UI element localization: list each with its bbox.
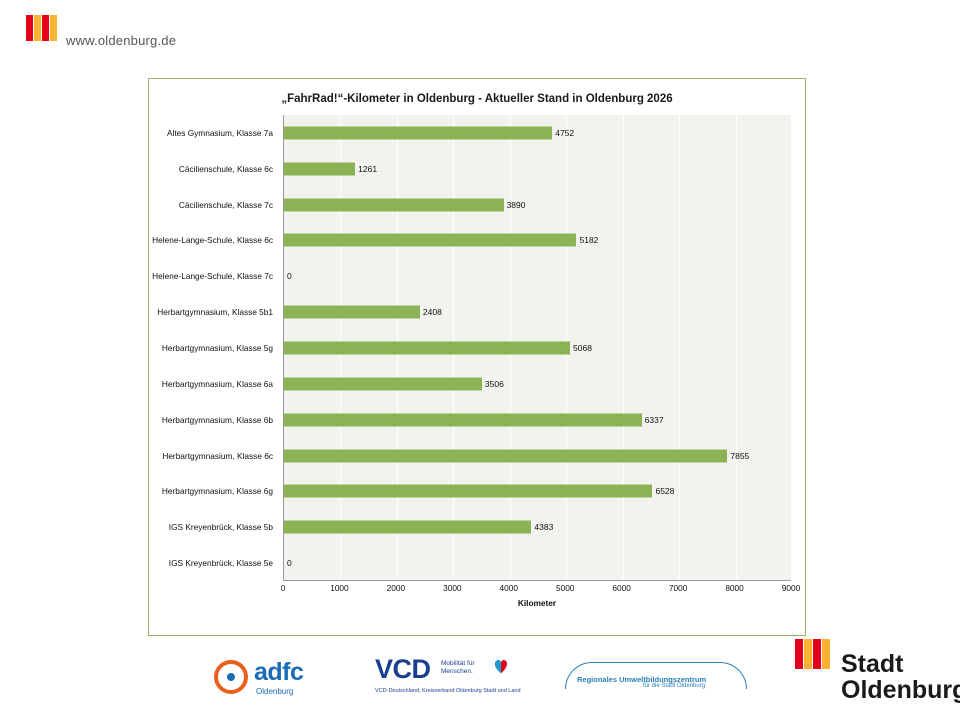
x-axis-tick-label: 8000 [725, 583, 743, 593]
vcd-sublabel: VCD-Deutschland, Kreisverband Oldenburg … [375, 688, 521, 694]
heart-icon [492, 658, 510, 674]
bar-row: 0 [284, 258, 791, 294]
bar [284, 198, 504, 211]
bar-value-label: 3890 [507, 200, 526, 210]
page-header: www.oldenburg.de [0, 0, 960, 70]
bar-row: 3506 [284, 366, 791, 402]
bar-value-label: 1261 [358, 164, 377, 174]
y-axis-tick-label: Helene-Lange-Schule, Klasse 7c [149, 258, 279, 294]
vcd-logo: VCD Mobilität für Menschen. VCD-Deutschl… [375, 654, 525, 710]
bar [284, 377, 482, 390]
bar-row: 6528 [284, 473, 791, 509]
adfc-wordmark: adfc [254, 658, 303, 687]
x-axis-tick-label: 7000 [669, 583, 687, 593]
bar-row: 2408 [284, 294, 791, 330]
stadt-oldenburg-logo: Stadt Oldenburg [795, 650, 960, 710]
stadt-line2: Oldenburg [841, 676, 960, 705]
bar [284, 521, 531, 534]
bar-value-label: 0 [287, 271, 292, 281]
bar-value-label: 7855 [730, 451, 749, 461]
vcd-claim-line1: Mobilität für [441, 660, 475, 668]
bar-value-label: 0 [287, 558, 292, 568]
y-axis-tick-label: IGS Kreyenbrück, Klasse 5e [149, 545, 279, 581]
bar-value-label: 4752 [555, 128, 574, 138]
bar-value-label: 6528 [655, 486, 674, 496]
y-axis-tick-label: Herbartgymnasium, Klasse 6c [149, 438, 279, 474]
bar-value-label: 4383 [534, 522, 553, 532]
bar-rows: 4752126138905182024085068350663377855652… [284, 115, 791, 580]
bar-row: 5182 [284, 223, 791, 259]
bar-row: 4752 [284, 115, 791, 151]
adfc-ring-icon [214, 660, 248, 694]
site-url: www.oldenburg.de [66, 33, 176, 48]
y-axis-tick-label: IGS Kreyenbrück, Klasse 5b [149, 509, 279, 545]
x-axis-tick-label: 4000 [500, 583, 518, 593]
bar [284, 162, 355, 175]
vcd-wordmark: VCD [375, 654, 431, 685]
page-footer: adfc Oldenburg VCD Mobilität für Mensche… [0, 642, 960, 720]
x-axis-ticks: 0100020003000400050006000700080009000 [283, 583, 791, 597]
bar-row: 7855 [284, 438, 791, 474]
bar-value-label: 6337 [645, 415, 664, 425]
plot-area: 4752126138905182024085068350663377855652… [283, 115, 791, 581]
x-axis-tick-label: 1000 [330, 583, 348, 593]
bar [284, 485, 652, 498]
vcd-claim-line2: Menschen. [441, 668, 475, 676]
bar-row: 0 [284, 545, 791, 581]
bar [284, 126, 552, 139]
bar-value-label: 5182 [579, 235, 598, 245]
adfc-logo: adfc Oldenburg [210, 656, 340, 704]
vcd-claim: Mobilität für Menschen. [441, 660, 475, 676]
bar-row: 5068 [284, 330, 791, 366]
bar-value-label: 2408 [423, 307, 442, 317]
y-axis-tick-label: Cäcilienschule, Klasse 6c [149, 151, 279, 187]
y-axis-tick-label: Herbartgymnasium, Klasse 6a [149, 366, 279, 402]
bar-row: 4383 [284, 509, 791, 545]
bar [284, 449, 727, 462]
x-axis-tick-label: 0 [281, 583, 286, 593]
oldenburg-flag-logo-icon [26, 28, 60, 54]
y-axis-tick-label: Helene-Lange-Schule, Klasse 6c [149, 223, 279, 259]
bar [284, 306, 420, 319]
bar-value-label: 5068 [573, 343, 592, 353]
adfc-sublabel: Oldenburg [256, 687, 293, 696]
x-axis-tick-label: 3000 [443, 583, 461, 593]
x-axis-title: Kilometer [283, 598, 791, 608]
x-axis-tick-label: 6000 [612, 583, 630, 593]
stadt-line1: Stadt [841, 650, 904, 679]
y-axis-tick-label: Herbartgymnasium, Klasse 5g [149, 330, 279, 366]
bar-row: 6337 [284, 402, 791, 438]
rubz-line2: für die Stadt Oldenburg [643, 683, 705, 689]
chart-panel: „FahrRad!“-Kilometer in Oldenburg - Aktu… [148, 78, 806, 636]
y-axis-tick-label: Herbartgymnasium, Klasse 5b1 [149, 294, 279, 330]
stadt-flag-icon [795, 654, 833, 684]
y-axis-tick-label: Herbartgymnasium, Klasse 6b [149, 402, 279, 438]
x-axis-tick-label: 9000 [782, 583, 800, 593]
x-axis-tick-label: 2000 [387, 583, 405, 593]
y-axis-tick-label: Herbartgymnasium, Klasse 6g [149, 473, 279, 509]
bar-value-label: 3506 [485, 379, 504, 389]
rubz-logo: Regionales Umweltbildungszentrum für die… [565, 662, 745, 702]
bar-row: 3890 [284, 187, 791, 223]
bar [284, 234, 576, 247]
y-axis-labels: Altes Gymnasium, Klasse 7aCäcilienschule… [149, 115, 279, 581]
y-axis-tick-label: Cäcilienschule, Klasse 7c [149, 187, 279, 223]
gridline [792, 115, 793, 580]
chart-title: „FahrRad!“-Kilometer in Oldenburg - Aktu… [149, 93, 805, 105]
bar [284, 341, 570, 354]
bar [284, 413, 642, 426]
y-axis-tick-label: Altes Gymnasium, Klasse 7a [149, 115, 279, 151]
bar-row: 1261 [284, 151, 791, 187]
x-axis-tick-label: 5000 [556, 583, 574, 593]
